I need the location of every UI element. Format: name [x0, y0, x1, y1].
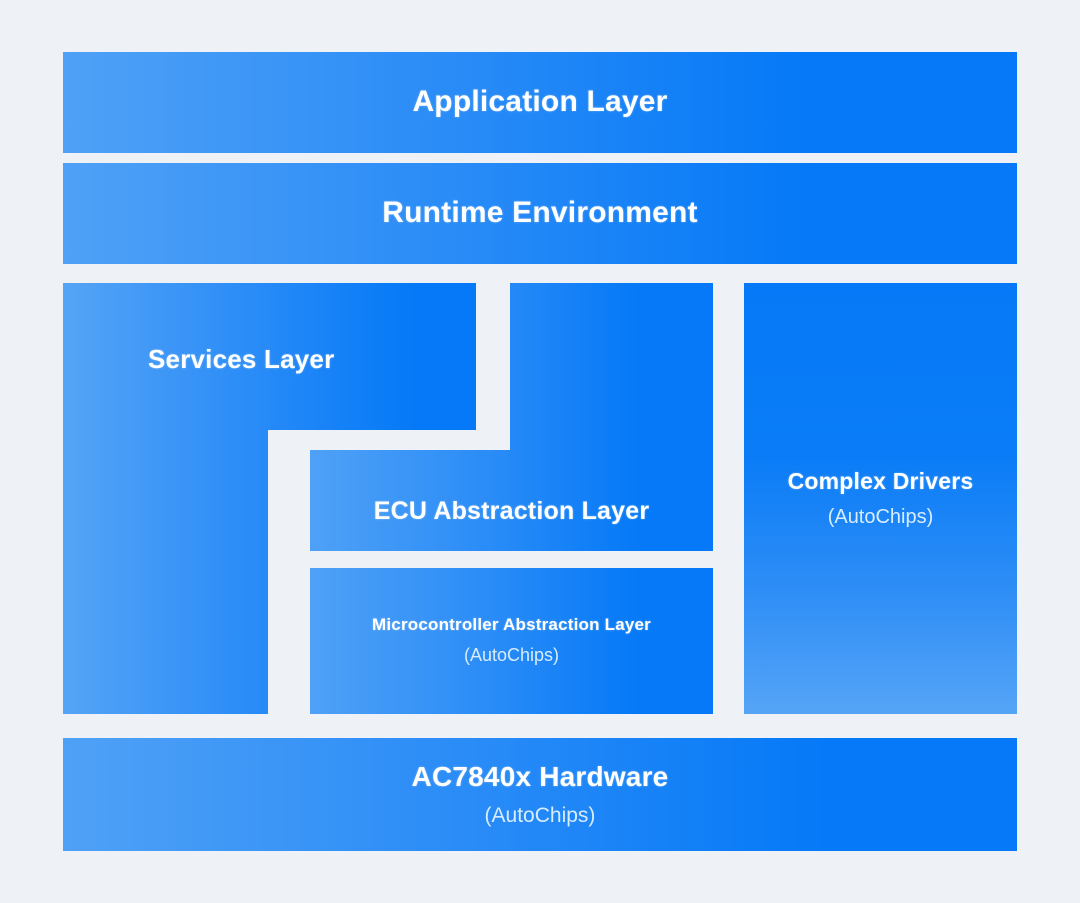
layered-architecture-diagram: Application Layer Runtime Environment Se…	[0, 0, 1080, 903]
microcontroller-abstraction-layer-label: Microcontroller Abstraction Layer	[372, 615, 651, 635]
complex-drivers-vendor: (AutoChips)	[828, 505, 934, 529]
hardware-layer-label: AC7840x Hardware	[412, 761, 669, 793]
hardware-layer-vendor: (AutoChips)	[485, 803, 596, 828]
services-layer-label: Services Layer	[148, 345, 334, 375]
runtime-environment-label: Runtime Environment	[382, 196, 698, 231]
layer-block-runtime-environment: Runtime Environment	[63, 163, 1017, 264]
microcontroller-abstraction-layer-vendor: (AutoChips)	[464, 645, 559, 667]
layer-block-complex-drivers: Complex Drivers (AutoChips)	[744, 283, 1017, 714]
application-layer-label: Application Layer	[412, 85, 667, 120]
ecu-abstraction-layer-label: ECU Abstraction Layer	[374, 497, 650, 526]
complex-drivers-label: Complex Drivers	[788, 468, 974, 494]
layer-block-microcontroller-abstraction: Microcontroller Abstraction Layer (AutoC…	[310, 568, 713, 714]
layer-block-hardware: AC7840x Hardware (AutoChips)	[63, 738, 1017, 851]
layer-block-application: Application Layer	[63, 52, 1017, 153]
